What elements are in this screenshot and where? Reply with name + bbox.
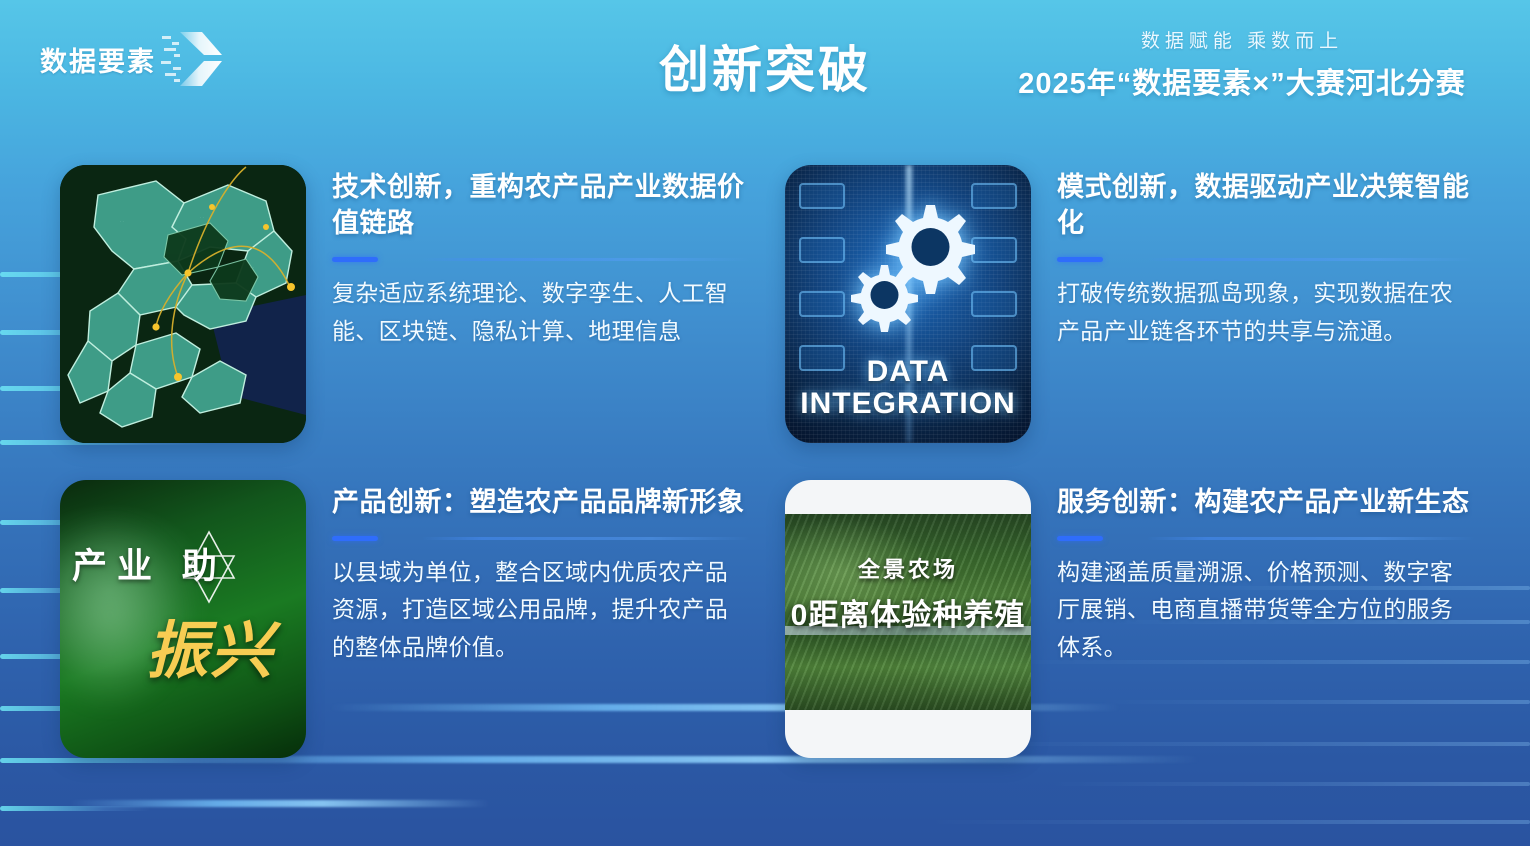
hebei-map-thumbnail[interactable]: · ·· ·· · [60,165,306,443]
caption-line-2: 0距离体验种养殖 [785,590,1031,634]
data-integration-image: DATA INTEGRATION [785,165,1031,443]
card-body: 模式创新，数据驱动产业决策智能化 打破传统数据孤岛现象，实现数据在农产品产业链各… [1057,165,1475,460]
industry-revitalization-thumbnail[interactable]: 产业 助 振兴 [60,480,306,758]
panorama-farm-image: 全景农场 0距离体验种养殖 [785,480,1031,758]
caption-line-1: 全景农场 [785,552,1031,584]
svg-text:· ·: · · [250,265,254,270]
industry-revitalization-image: 产业 助 振兴 [60,480,306,758]
card-body: 产品创新：塑造农产品品牌新形象 以县域为单位，整合区域内优质农产品资源，打造区域… [332,480,750,775]
card-product-innovation[interactable]: 产业 助 振兴 产品创新：塑造农产品品牌新形象 以县域为单位，整合区域内优质农产… [60,480,750,775]
data-integration-caption: DATA INTEGRATION [785,355,1031,421]
card-description: 以县域为单位，整合区域内优质农产品资源，打造区域公用品牌，提升农产品的整体品牌价… [332,554,750,666]
card-description: 打破传统数据孤岛现象，实现数据在农产品产业链各环节的共享与流通。 [1057,275,1475,350]
card-divider [1057,257,1475,261]
svg-text:· ·: · · [120,219,124,224]
card-title: 服务创新：构建农产品产业新生态 [1057,484,1475,520]
card-mode-innovation[interactable]: DATA INTEGRATION 模式创新，数据驱动产业决策智能化 打破传统数据… [785,165,1475,460]
hebei-map-image: · ·· ·· · [60,165,306,443]
card-body: 服务创新：构建农产品产业新生态 构建涵盖质量溯源、价格预测、数字客厅展销、电商直… [1057,480,1475,775]
card-title: 产品创新：塑造农产品品牌新形象 [332,484,750,520]
panorama-farm-thumbnail[interactable]: 全景农场 0距离体验种养殖 [785,480,1031,758]
card-description: 构建涵盖质量溯源、价格预测、数字客厅展销、电商直播带货等全方位的服务体系。 [1057,554,1475,666]
card-title: 模式创新，数据驱动产业决策智能化 [1057,169,1475,241]
revitalization-line-1: 产业 助 [72,538,227,589]
card-title: 技术创新，重构农产品产业数据价值链路 [332,169,750,241]
event-slogan: 数据赋能 乘数而上 [982,26,1502,53]
svg-text:· ·: · · [200,215,204,220]
event-title: 2025年“数据要素×”大赛河北分赛 [982,60,1502,102]
card-divider [332,257,750,261]
card-service-innovation[interactable]: 全景农场 0距离体验种养殖 服务创新：构建农产品产业新生态 构建涵盖质量溯源、价… [785,480,1475,775]
card-divider [1057,536,1475,540]
card-tech-innovation[interactable]: · ·· ·· · 技术创新，重构农产品产业数据价值链路 复杂适应系统理论、数字… [60,165,750,460]
revitalization-line-2: 振兴 [146,600,274,690]
gears-icon [785,193,1031,343]
card-description: 复杂适应系统理论、数字孪生、人工智能、区块链、隐私计算、地理信息 [332,275,750,350]
panorama-farm-caption: 全景农场 0距离体验种养殖 [785,552,1031,634]
card-body: 技术创新，重构农产品产业数据价值链路 复杂适应系统理论、数字孪生、人工智能、区块… [332,165,750,460]
page-header: 数据要素 [0,0,1530,120]
data-integration-thumbnail[interactable]: DATA INTEGRATION [785,165,1031,443]
caption-line-1: DATA [785,355,1031,389]
caption-line-2: INTEGRATION [785,387,1031,421]
event-block: 数据赋能 乘数而上 2025年“数据要素×”大赛河北分赛 [982,26,1502,102]
cards-grid: · ·· ·· · 技术创新，重构农产品产业数据价值链路 复杂适应系统理论、数字… [60,165,1475,775]
card-divider [332,536,750,540]
